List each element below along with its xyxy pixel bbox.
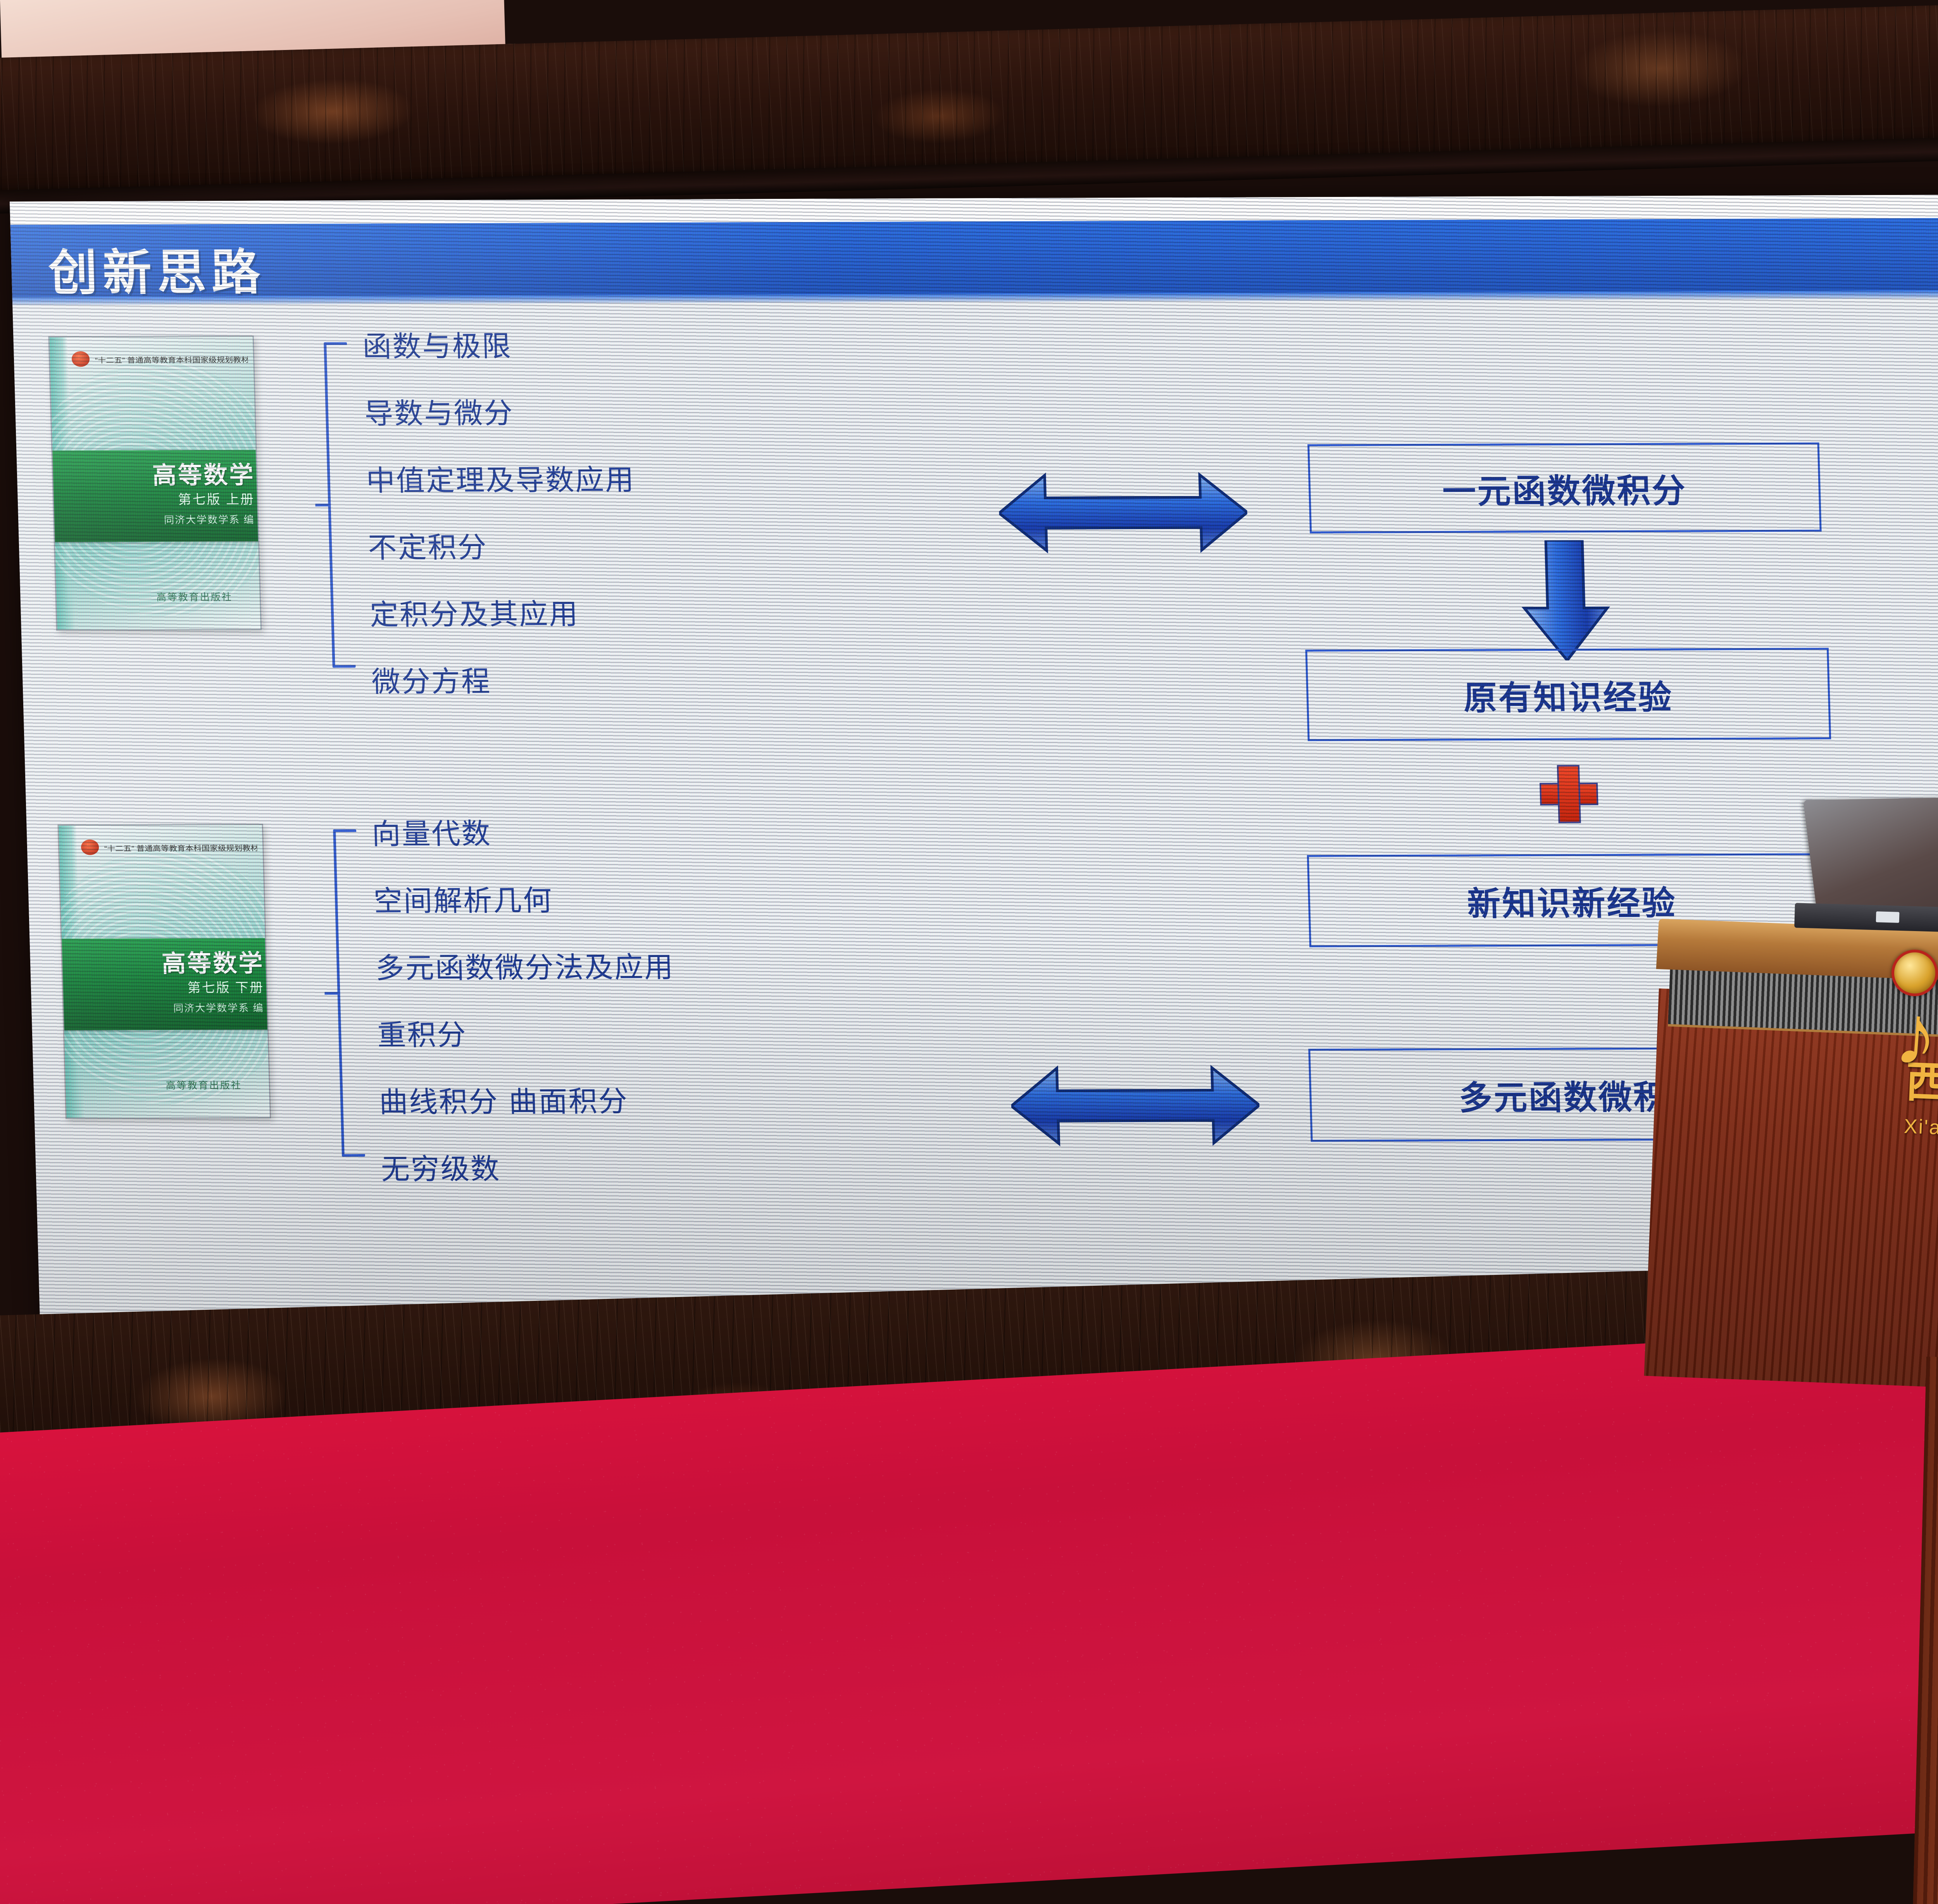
music-note-icon: ♪ (1889, 995, 1938, 1116)
topic-item: 微分方程 (371, 658, 641, 700)
concept-box-label: 新知识新经验 (1466, 876, 1677, 925)
presentation-scene: 创新思路 “十二五” 普通高等教育本科国家级规划教材 高等数学 第七版 上册 同… (0, 0, 1938, 1904)
slide-body: “十二五” 普通高等教育本科国家级规划教材 高等数学 第七版 上册 同济大学数学… (12, 297, 1938, 1337)
topic-item: 多元函数微分法及应用 (375, 944, 674, 987)
topic-item: 函数与极限 (362, 323, 632, 365)
topic-item: 空间解析几何 (373, 877, 673, 920)
book-author: 同济大学数学系 编 (58, 1000, 264, 1015)
book-banner-line: “十二五” 普通高等教育本科国家级规划教材 (95, 354, 248, 364)
laptop-lid (1803, 797, 1938, 916)
plus-vertical-bar (1557, 765, 1581, 823)
double-arrow-icon-bottom (1010, 1061, 1260, 1150)
book-title: 高等数学 (58, 943, 265, 979)
plus-sign-icon (1539, 765, 1599, 823)
book-publisher: 高等教育出版社 (56, 590, 233, 604)
book-edition: 第七版 上册 (48, 489, 255, 509)
double-arrow-icon-top (998, 468, 1248, 558)
topic-item: 中值定理及导数应用 (366, 457, 635, 499)
down-arrow-icon (1508, 540, 1623, 661)
topic-item: 曲线积分 曲面积分 (379, 1078, 678, 1121)
laptop-keycap (1876, 911, 1900, 923)
bracket-upper (324, 342, 356, 668)
bracket-lower (333, 829, 365, 1157)
topic-item: 向量代数 (371, 810, 671, 853)
topic-item: 定积分及其应用 (369, 591, 639, 633)
page-title: 创新思路 (47, 233, 266, 304)
national-emblem-icon (81, 840, 99, 855)
laptop[interactable] (1795, 799, 1938, 930)
slide-title-band (10, 216, 1938, 301)
lectern-column (1913, 1357, 1938, 1904)
book-edition: 第七版 下册 (58, 977, 264, 997)
bracket-nub (324, 992, 340, 994)
book-green-band: 高等数学 第七版 下册 同济大学数学系 编 (58, 938, 271, 1030)
concept-box-label: 一元函数微积分 (1442, 463, 1688, 512)
national-emblem-icon (72, 351, 90, 367)
topic-item: 重积分 (377, 1011, 676, 1054)
topic-list-upper: 函数与极限 导数与微分 中值定理及导数应用 不定积分 定积分及其应用 微分方程 (362, 323, 641, 700)
topic-item: 导数与微分 (364, 390, 634, 432)
main-led-screen[interactable]: 创新思路 “十二五” 普通高等教育本科国家级规划教材 高等数学 第七版 上册 同… (10, 193, 1938, 1337)
bracket-nub (315, 504, 331, 506)
venue-logo: ♪ 西安广成大酒店 Xi'an Guangcheng Hotel (1902, 1047, 1938, 1187)
concept-box-prior-knowledge: 原有知识经验 (1305, 648, 1831, 741)
book-green-band: 高等数学 第七版 上册 同济大学数学系 编 (48, 450, 262, 542)
topic-list-lower: 向量代数 空间解析几何 多元函数微分法及应用 重积分 曲线积分 曲面积分 无穷级… (371, 810, 680, 1188)
book-publisher: 高等教育出版社 (66, 1078, 242, 1092)
concept-box-one-variable-calculus: 一元函数微积分 (1307, 443, 1822, 534)
topic-item: 不定积分 (367, 524, 637, 566)
book-title: 高等数学 (48, 455, 255, 491)
concept-box-label: 原有知识经验 (1463, 670, 1674, 719)
book-author: 同济大学数学系 编 (49, 512, 255, 527)
topic-item: 无穷级数 (380, 1145, 680, 1188)
lectern: ♪ 西安广成大酒店 Xi'an Guangcheng Hotel (1659, 919, 1938, 1904)
textbook-cover-volume-2: “十二五” 普通高等教育本科国家级规划教材 高等数学 第七版 下册 同济大学数学… (58, 824, 271, 1119)
book-banner-line: “十二五” 普通高等教育本科国家级规划教材 (104, 843, 257, 852)
slide-canvas: 创新思路 “十二五” 普通高等教育本科国家级规划教材 高等数学 第七版 上册 同… (10, 193, 1938, 1337)
textbook-cover-volume-1: “十二五” 普通高等教育本科国家级规划教材 高等数学 第七版 上册 同济大学数学… (48, 336, 262, 631)
laptop-base (1794, 903, 1938, 934)
venue-name-en: Xi'an Guangcheng Hotel (1904, 1115, 1938, 1150)
